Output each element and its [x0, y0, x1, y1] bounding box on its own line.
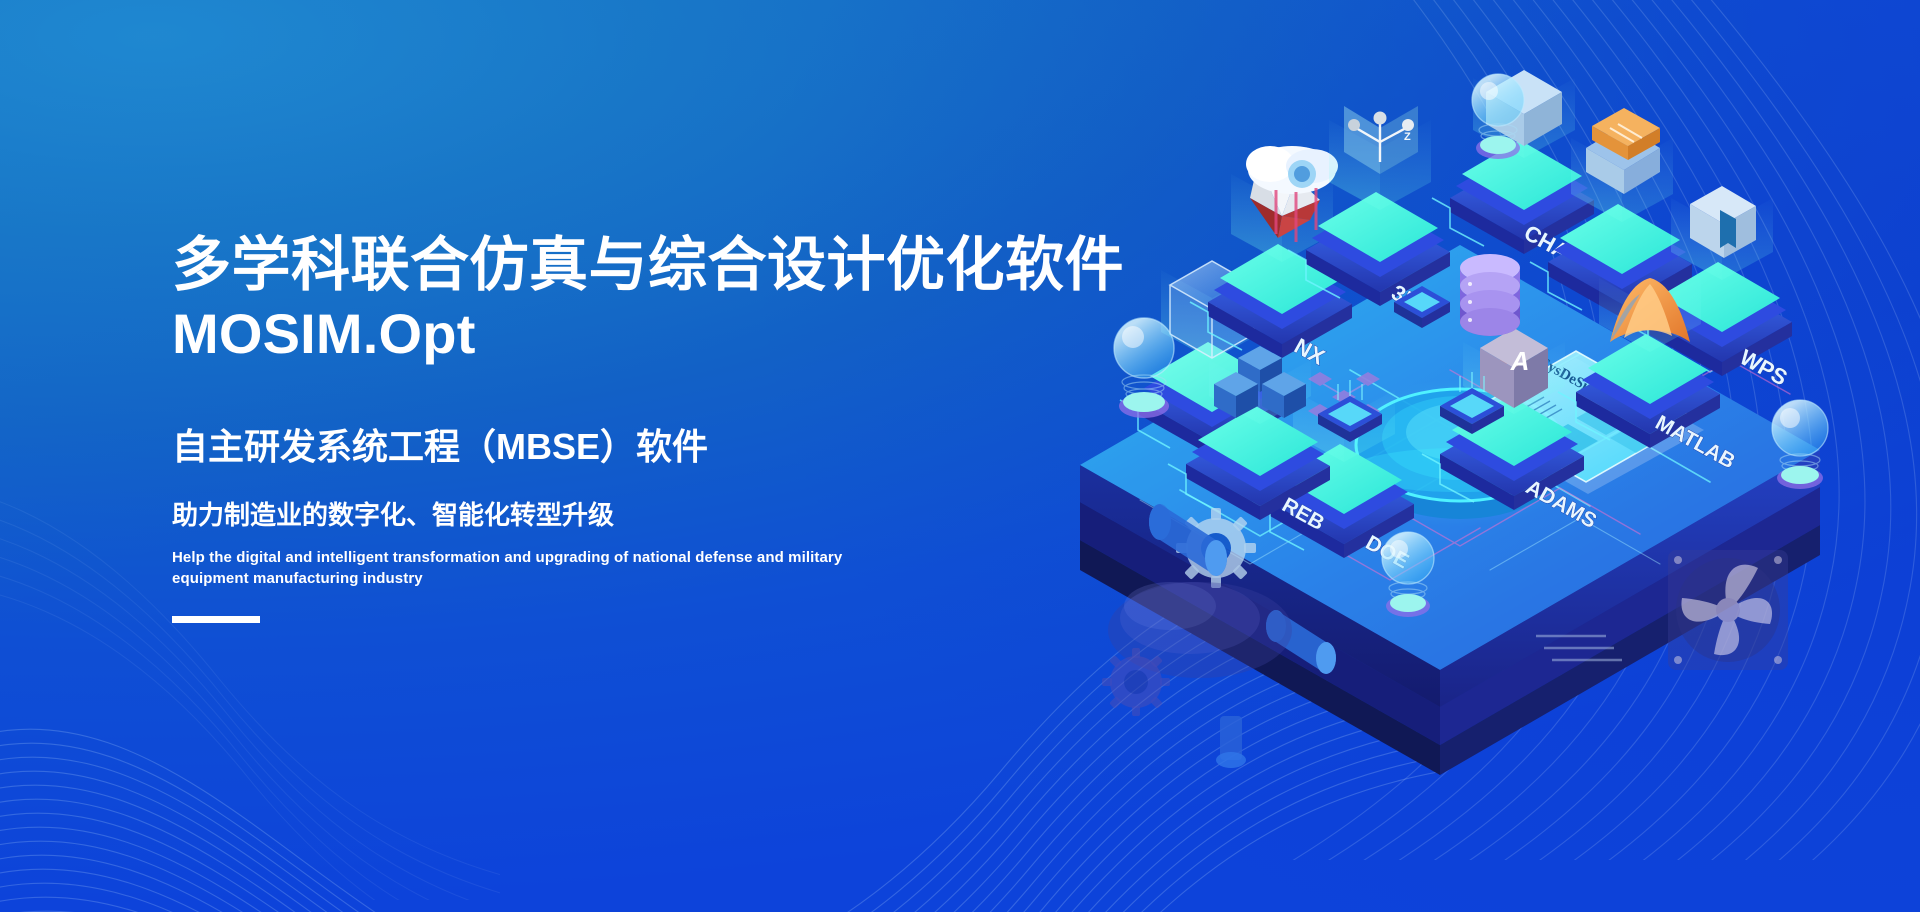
database-cylinder-icon — [1460, 254, 1520, 336]
subtitle-primary: 自主研发系统工程（MBSE）软件 — [172, 424, 1172, 471]
sphere-icon-3 — [1772, 400, 1828, 489]
svg-text:Z: Z — [1404, 131, 1411, 143]
svg-text:A: A — [1510, 346, 1530, 376]
fan-icon — [1668, 550, 1788, 670]
subtitle-english: Help the digital and intelligent transfo… — [172, 547, 872, 590]
leg-icon-1 — [1216, 716, 1246, 768]
page-title-en: MOSIM.Opt — [172, 302, 1172, 366]
sphere-icon-4 — [1382, 532, 1434, 617]
page-title-cn: 多学科联合仿真与综合设计优化软件 — [172, 232, 1172, 298]
subtitle-secondary: 助力制造业的数字化、智能化转型升级 — [172, 499, 1172, 533]
gear-icon-2 — [1102, 648, 1170, 716]
accent-rule — [172, 616, 260, 623]
sphere-icon-2 — [1472, 74, 1524, 159]
hero-copy: 多学科联合仿真与综合设计优化软件 MOSIM.Opt 自主研发系统工程（MBSE… — [172, 232, 1172, 623]
hero-banner: 多学科联合仿真与综合设计优化软件 MOSIM.Opt 自主研发系统工程（MBSE… — [0, 0, 1920, 912]
